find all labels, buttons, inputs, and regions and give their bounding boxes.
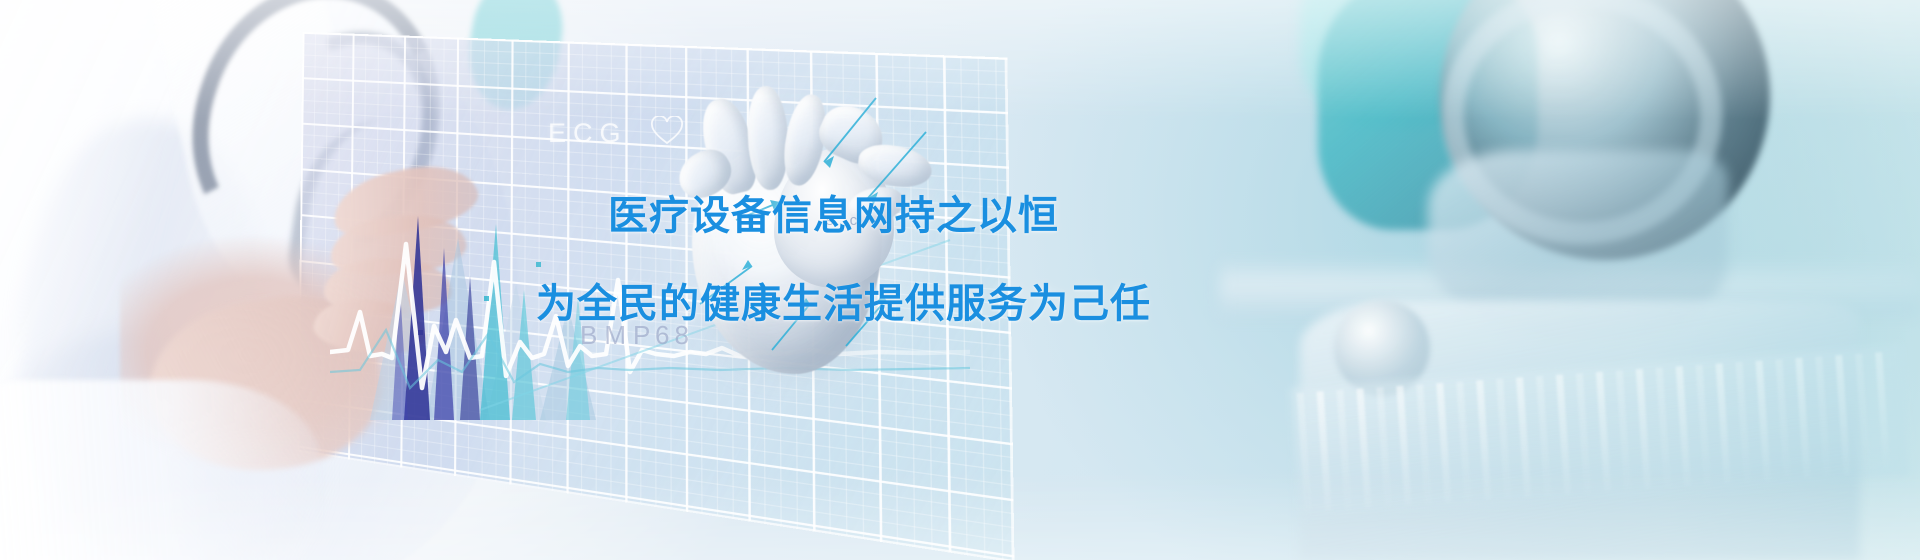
ecg-label: ECG — [548, 118, 628, 149]
coat-sleeve-cuff — [0, 380, 320, 560]
hero-banner: ECG BMP 68 s c 医疗设备信息网持之以恒 为全民的健康生活提供服务为… — [0, 0, 1920, 560]
headline-line-2: 为全民的健康生活提供服务为己任 — [536, 284, 1324, 324]
heart-outline-icon — [650, 116, 684, 146]
headline-line-1: 医疗设备信息网持之以恒 — [608, 196, 1324, 236]
headline-block: 医疗设备信息网持之以恒 为全民的健康生活提供服务为己任 — [604, 196, 1324, 324]
